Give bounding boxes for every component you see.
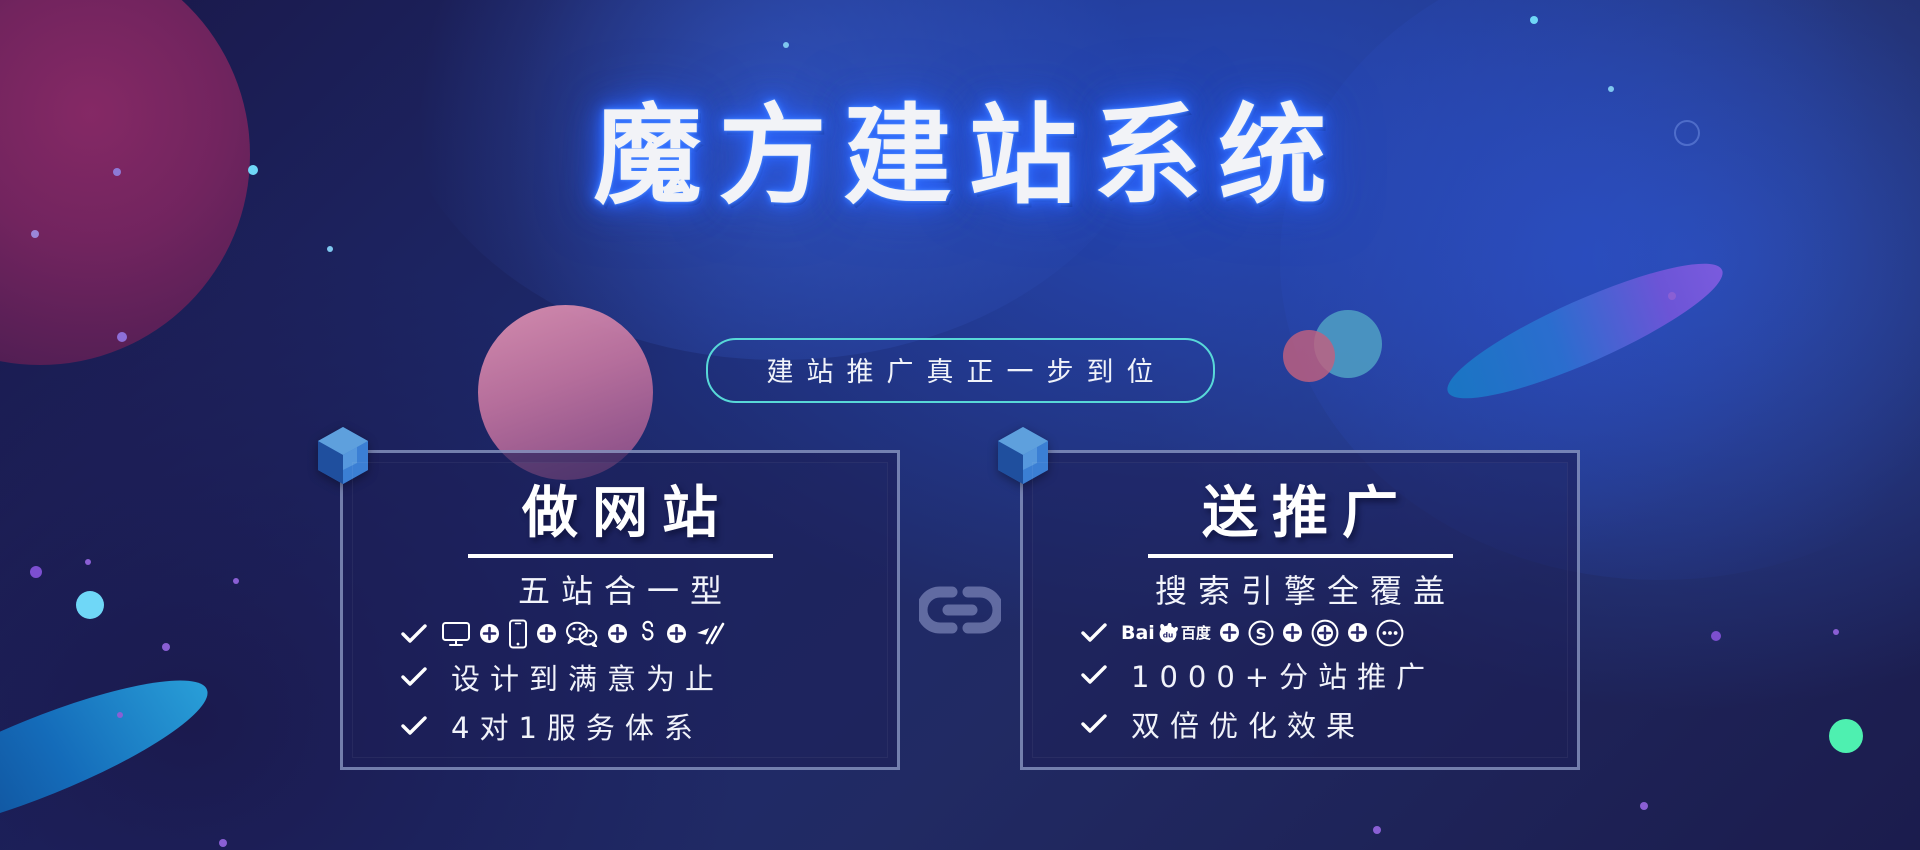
feature-cards: 做网站 五站合一型 xyxy=(0,450,1920,770)
baidu-du-label: du xyxy=(1163,630,1174,639)
card-content: 送推广 搜索引擎全覆盖 Bai xyxy=(1032,462,1568,758)
check-icon xyxy=(1081,623,1107,643)
subtitle-block: 建站推广真正一步到位 xyxy=(0,338,1920,403)
baidu-label: Bai xyxy=(1121,622,1155,644)
page-title: 魔方建站系统 xyxy=(566,92,1353,222)
decor-dot xyxy=(219,839,227,847)
card-make-website[interactable]: 做网站 五站合一型 xyxy=(340,450,900,770)
promo-banner: 魔方建站系统 建站推广真正一步到位 做网站 五站合一型 xyxy=(0,0,1920,850)
feature-row-text: 设计到满意为止 xyxy=(379,656,861,698)
baidu-logo-icon: Bai du 百度 xyxy=(1121,622,1211,644)
decor-dot xyxy=(31,230,39,238)
360-search-icon xyxy=(1311,619,1339,647)
chain-connector xyxy=(900,450,1020,770)
decor-dot xyxy=(783,42,789,48)
feature-label: 4对1服务体系 xyxy=(441,705,703,747)
decor-dot xyxy=(1640,802,1648,810)
plus-icon xyxy=(536,623,557,644)
feature-row-text: 1000+分站推广 xyxy=(1059,654,1541,696)
heading-underline xyxy=(468,554,773,558)
app-store-icon xyxy=(695,621,725,647)
desktop-monitor-icon xyxy=(441,621,471,647)
card-subheading: 五站合一型 xyxy=(379,566,861,612)
check-icon xyxy=(401,716,427,736)
wechat-icon xyxy=(565,621,599,647)
heading-underline xyxy=(1148,554,1453,558)
decor-dot xyxy=(327,246,333,252)
decor-dot xyxy=(1668,292,1676,300)
check-icon xyxy=(1081,665,1107,685)
card-heading: 送推广 xyxy=(1059,485,1541,544)
plus-icon xyxy=(666,623,687,644)
plus-icon xyxy=(1219,622,1240,643)
plus-icon xyxy=(607,623,628,644)
music-note-icon xyxy=(636,620,658,648)
search-engine-icon-row: Bai du 百度 xyxy=(1121,619,1404,647)
card-content: 做网站 五站合一型 xyxy=(352,462,888,758)
subtitle-pill: 建站推广真正一步到位 xyxy=(706,338,1215,403)
feature-label: 设计到满意为止 xyxy=(441,656,724,698)
feature-label: 双倍优化效果 xyxy=(1121,703,1365,745)
check-icon xyxy=(401,624,427,644)
card-free-promotion[interactable]: 送推广 搜索引擎全覆盖 Bai xyxy=(1020,450,1580,770)
check-icon xyxy=(401,667,427,687)
check-icon xyxy=(1081,714,1107,734)
title-block: 魔方建站系统 xyxy=(0,92,1920,222)
feature-row-text: 双倍优化效果 xyxy=(1059,703,1541,745)
feature-row-icons: Bai du 百度 xyxy=(1059,619,1541,647)
sogou-letter: S xyxy=(1255,625,1266,643)
feature-label: 1000+分站推广 xyxy=(1121,654,1435,696)
baidu-cn-label: 百度 xyxy=(1181,622,1211,643)
plus-icon xyxy=(479,623,500,644)
plus-icon xyxy=(1347,622,1368,643)
card-heading: 做网站 xyxy=(379,485,861,544)
decor-dot xyxy=(1373,826,1381,834)
decor-dot xyxy=(1530,16,1538,24)
chain-link-icon xyxy=(919,582,1001,638)
card-subheading: 搜索引擎全覆盖 xyxy=(1059,566,1541,612)
sogou-icon: S xyxy=(1248,620,1274,646)
plus-icon xyxy=(1282,622,1303,643)
platform-icon-row xyxy=(441,619,725,649)
feature-row-icons xyxy=(379,619,861,649)
baidu-paw-icon: du xyxy=(1157,623,1179,643)
ellipsis-circle-icon xyxy=(1376,619,1404,647)
feature-row-text: 4对1服务体系 xyxy=(379,705,861,747)
mobile-phone-icon xyxy=(508,619,528,649)
